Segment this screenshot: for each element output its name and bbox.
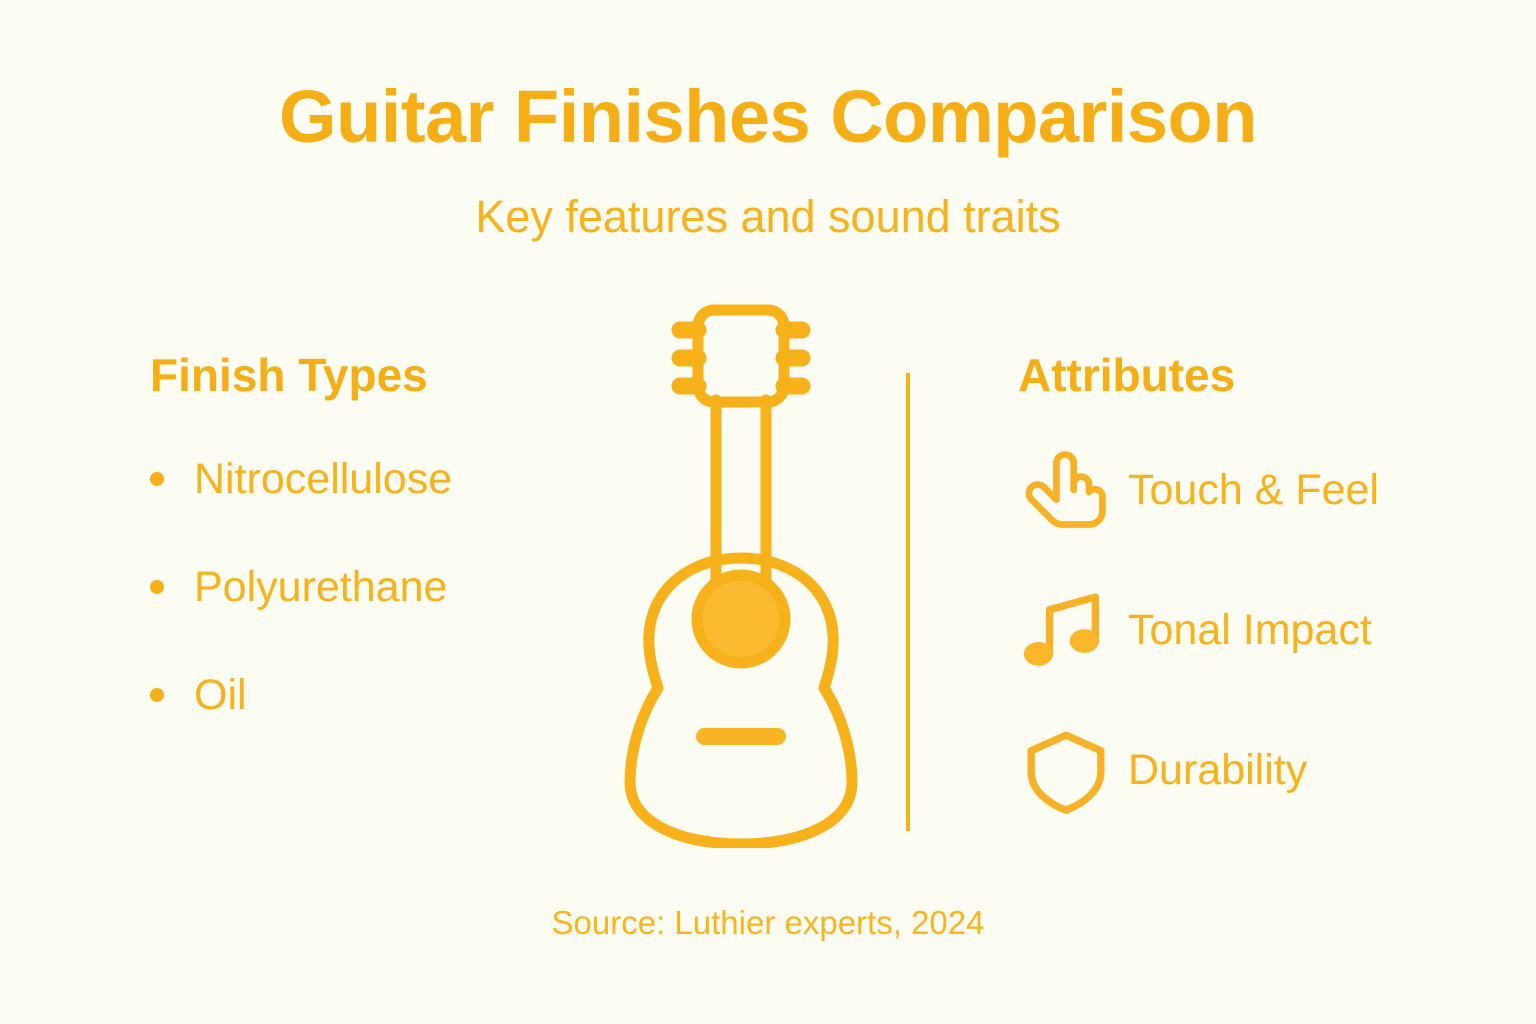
list-item: Oil [150, 668, 620, 722]
page-subtitle: Key features and sound traits [0, 192, 1536, 242]
list-item-label: Touch & Feel [1128, 469, 1379, 512]
column-divider [906, 373, 910, 831]
list-item-label: Polyurethane [194, 566, 447, 609]
list-item: Nitrocellulose [150, 452, 620, 506]
music-note-head-left [1024, 642, 1053, 666]
page-title: Guitar Finishes Comparison [0, 78, 1536, 156]
list-item: Touch & Feel [1018, 442, 1518, 538]
bullet-dot-icon [150, 580, 164, 594]
guitar-neck [716, 400, 766, 596]
finish-types-heading: Finish Types [150, 352, 620, 398]
guitar-bridge [696, 728, 786, 745]
finish-types-list: Nitrocellulose Polyurethane Oil [150, 452, 620, 722]
list-item-label: Durability [1128, 749, 1307, 792]
list-item-label: Oil [194, 674, 247, 717]
attributes-list: Touch & Feel Tonal Impact [1018, 442, 1518, 818]
shield-icon [1018, 722, 1114, 818]
hand-pointer-icon [1018, 442, 1114, 538]
finish-types-column: Finish Types Nitrocellulose Polyurethane… [150, 352, 620, 722]
source-caption: Source: Luthier experts, 2024 [0, 904, 1536, 942]
list-item: Tonal Impact [1018, 582, 1518, 678]
attributes-column: Attributes Touch & Feel [1018, 352, 1518, 818]
list-item: Polyurethane [150, 560, 620, 614]
tuning-pegs-left [680, 330, 698, 386]
attributes-heading: Attributes [1018, 352, 1518, 398]
list-item: Durability [1018, 722, 1518, 818]
list-item-label: Tonal Impact [1128, 609, 1372, 652]
acoustic-guitar-icon [596, 296, 886, 848]
guitar-sound-hole [697, 575, 785, 663]
music-note-icon [1018, 582, 1114, 678]
infographic-canvas: Guitar Finishes Comparison Key features … [0, 0, 1536, 1024]
bullet-dot-icon [150, 472, 164, 486]
bullet-dot-icon [150, 688, 164, 702]
tuning-pegs-right [784, 330, 802, 386]
list-item-label: Nitrocellulose [194, 458, 452, 501]
guitar-headstock [698, 310, 784, 402]
music-note-head-right [1070, 629, 1099, 653]
acoustic-guitar-illustration [596, 296, 886, 848]
